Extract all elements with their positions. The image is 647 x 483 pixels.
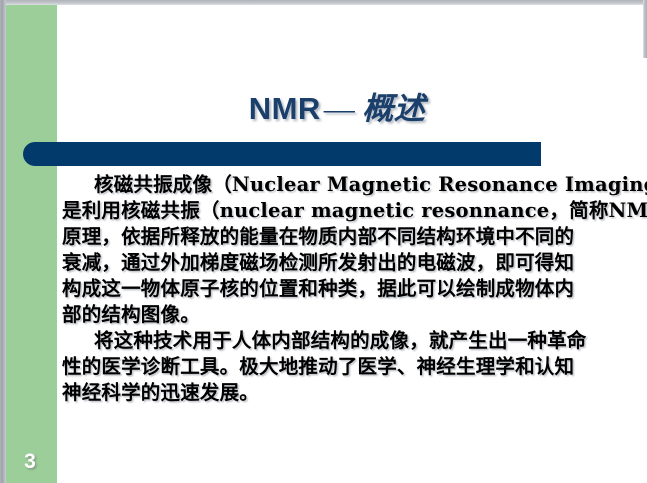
body-line: 将这种技术用于人体内部结构的成像，就产生出一种革命 — [62, 328, 640, 354]
body-line: 核磁共振成像（Nuclear Magnetic Resonance Imagin… — [62, 172, 640, 198]
slide-frame-top-border — [0, 0, 647, 5]
title-cjk-text: 概述 — [358, 91, 425, 127]
body-line: 构成这一物体原子核的位置和种类，据此可以绘制成物体内 — [62, 276, 640, 302]
body-line: 神经科学的迅速发展。 — [62, 380, 640, 406]
title-accent-bar — [23, 142, 541, 166]
body-line: 性的医学诊断工具。极大地推动了医学、神经生理学和认知 — [62, 354, 640, 380]
title-dash: — — [321, 91, 359, 126]
title-latin-text: NMR — [249, 91, 321, 126]
page-number: 3 — [18, 450, 42, 474]
slide-title: NMR—概述 — [57, 83, 617, 128]
body-line: 是利用核磁共振（nuclear magnetic resonnance，简称NM… — [62, 198, 640, 224]
left-green-band — [6, 5, 57, 483]
body-line: 原理，依据所释放的能量在物质内部不同结构环境中不同的 — [62, 224, 640, 250]
body-line: 衰减，通过外加梯度磁场检测所发射出的电磁波，即可得知 — [62, 250, 640, 276]
body-line: 部的结构图像。 — [62, 302, 640, 328]
slide-body-text: 核磁共振成像（Nuclear Magnetic Resonance Imagin… — [62, 172, 640, 406]
presentation-slide: NMR—概述 核磁共振成像（Nuclear Magnetic Resonance… — [0, 0, 647, 483]
